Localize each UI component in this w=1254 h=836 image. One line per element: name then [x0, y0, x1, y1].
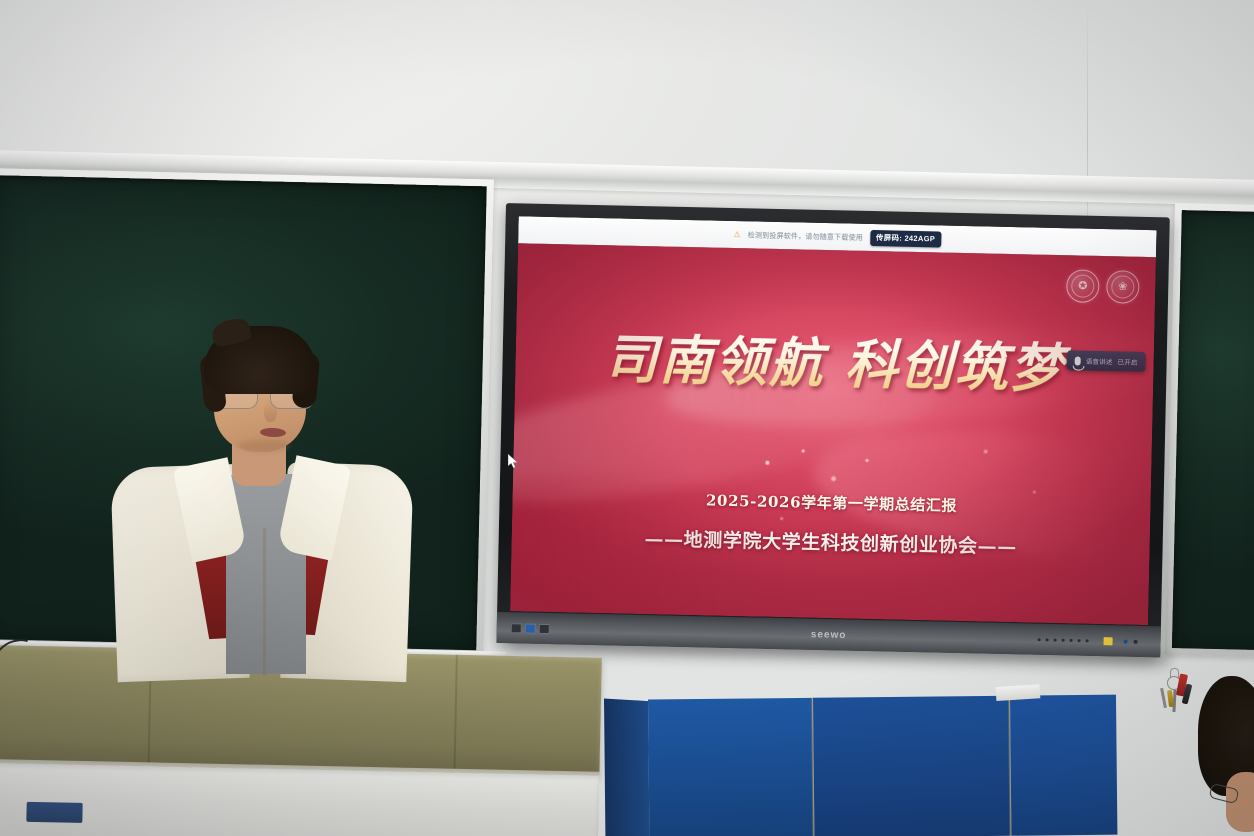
jacket-zipper: [263, 528, 266, 676]
association-emblem-glyph: ❀: [1118, 281, 1127, 292]
right-blackboard-surface: [1172, 210, 1254, 650]
wall-seam: [1087, 0, 1088, 240]
podium-body: [0, 763, 599, 836]
panel-button-secondary[interactable]: [1124, 639, 1128, 643]
mouse-pointer-icon: [508, 454, 520, 470]
cast-code-badge[interactable]: 传屏码: 242AGP: [870, 229, 941, 247]
sparkle: [780, 517, 783, 520]
slide-title: 司南领航 科创筑梦: [515, 315, 1155, 405]
presentation-slide[interactable]: ✪ ❀ 司南领航 科创筑梦 2025-2026学年第一学期总结汇报 ——地测学院…: [510, 243, 1156, 625]
voice-narration-toolbar[interactable]: 语音讲述 已开启: [1067, 350, 1146, 372]
warning-triangle-icon: ⚠: [734, 230, 741, 238]
classroom-photo-scene: ⚠ 检测到投屏软件，请勿随意下载使用 传屏码: 242AGP ✪ ❀: [0, 0, 1254, 836]
key-blade: [1160, 688, 1167, 708]
microphone-icon: [1075, 356, 1081, 365]
podium-label-plate: [26, 802, 82, 823]
blue-folding-display-board: [604, 695, 1117, 836]
sparkle: [865, 459, 868, 462]
sparkle: [765, 461, 769, 465]
board-panel: [648, 698, 813, 836]
paper-sheet: [996, 684, 1041, 701]
right-blackboard: [1165, 203, 1254, 658]
panel-port-labels: [511, 623, 550, 634]
slide-organization: ——地测学院大学生科技创新创业协会——: [511, 521, 1149, 562]
panel-button-tertiary[interactable]: [1134, 639, 1138, 643]
slide-subtitle: 2025-2026学年第一学期总结汇报: [512, 485, 1150, 520]
voice-label-primary: 语音讲述: [1086, 356, 1113, 367]
sparkle: [802, 450, 805, 453]
board-panel: [813, 696, 1010, 836]
sparkle: [1033, 491, 1036, 494]
sparkle: [984, 449, 988, 453]
sparkle: [831, 476, 836, 481]
chin-shadow: [238, 440, 290, 452]
port-label: [511, 623, 522, 633]
slide-vignette: [510, 243, 1156, 625]
speaker-grille: [1038, 638, 1089, 642]
voice-label-secondary: 已开启: [1117, 356, 1137, 366]
panel-brand-logo: seewo: [811, 629, 847, 641]
power-button[interactable]: [1104, 637, 1113, 645]
interactive-flat-panel[interactable]: ⚠ 检测到投屏软件，请勿随意下载使用 传屏码: 242AGP ✪ ❀: [496, 203, 1169, 657]
presenter-speaker: [108, 316, 408, 676]
hanging-keys: [1156, 668, 1196, 724]
slide-emblems: ✪ ❀: [1066, 269, 1140, 304]
port-label: [525, 623, 536, 633]
board-panel: [1010, 695, 1117, 836]
port-label: [539, 623, 550, 633]
university-emblem-glyph: ✪: [1078, 281, 1087, 292]
audience-member: [1196, 676, 1254, 836]
university-emblem: ✪: [1066, 269, 1100, 303]
panel-screen[interactable]: ⚠ 检测到投屏软件，请勿随意下载使用 传屏码: 242AGP ✪ ❀: [510, 216, 1156, 625]
board-panel: [604, 698, 649, 836]
warning-text: 检测到投屏软件，请勿随意下载使用: [748, 230, 863, 243]
association-emblem: ❀: [1106, 270, 1140, 304]
